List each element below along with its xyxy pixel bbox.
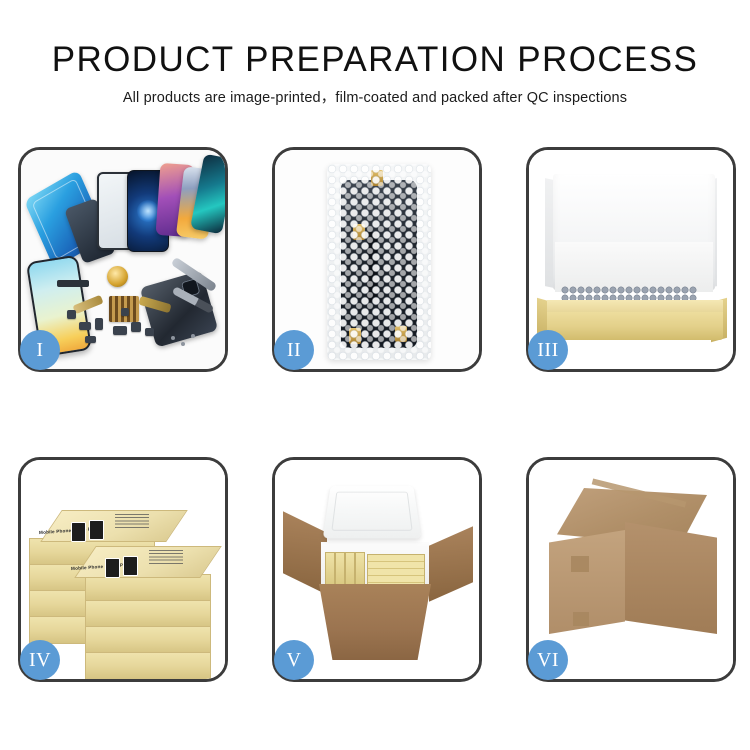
foam-lid <box>323 486 422 538</box>
product-preparation-process-page: PRODUCT PREPARATION PROCESS All products… <box>0 0 750 750</box>
stacked-box-f2 <box>85 600 211 628</box>
small-part-2 <box>79 322 91 330</box>
small-part-5 <box>131 322 141 332</box>
stacked-box-top-back <box>40 510 188 542</box>
step-badge-1: I <box>20 330 60 370</box>
retail-box-stack: Mobile Phone Spare Parts Mobile Phone Sp… <box>27 478 225 670</box>
page-subtitle: All products are image-printed，film-coat… <box>0 87 750 109</box>
step-badge-3: III <box>528 330 568 370</box>
small-part-3 <box>95 318 103 330</box>
inner-box-v4 <box>355 552 365 588</box>
step-panel-3[interactable]: III <box>526 147 736 372</box>
step-badge-4: IV <box>20 640 60 680</box>
screw-3 <box>191 334 195 338</box>
inner-box-base <box>547 310 723 340</box>
inner-box-v1 <box>325 552 335 588</box>
shipping-carton-right-face <box>625 522 717 634</box>
inner-box-v3 <box>345 552 355 588</box>
box-label-spec-lines-back <box>115 514 149 530</box>
stacked-box-f1 <box>85 574 211 602</box>
carton-body <box>319 584 431 660</box>
stacked-box-f3 <box>85 626 211 654</box>
screw-2 <box>181 342 185 346</box>
box-label-phone-icon-front-1 <box>105 558 120 578</box>
speaker-coil-part <box>107 266 128 287</box>
bubble-wrapped-package <box>327 164 431 360</box>
small-part-7 <box>85 336 96 343</box>
stacked-box-top-front <box>74 546 222 578</box>
box-label-spec-lines-front <box>149 550 183 566</box>
small-part-1 <box>67 310 76 319</box>
box-label-phone-icon-front-2 <box>123 556 138 576</box>
step-panel-4[interactable]: Mobile Phone Spare Parts Mobile Phone Sp… <box>18 457 228 682</box>
step-panel-2[interactable]: II <box>272 147 482 372</box>
small-part-4 <box>113 326 127 335</box>
header: PRODUCT PREPARATION PROCESS All products… <box>0 40 750 109</box>
stacked-box-f4 <box>85 652 211 679</box>
small-part-6 <box>145 328 154 336</box>
box-label-phone-icon-back-2 <box>89 520 104 540</box>
step-badge-2: II <box>274 330 314 370</box>
carton-patch-upper <box>571 556 589 572</box>
earpiece-mesh-part <box>57 280 89 287</box>
step-panel-5[interactable]: V <box>272 457 482 682</box>
step-badge-5: V <box>274 640 314 680</box>
page-title: PRODUCT PREPARATION PROCESS <box>0 40 750 80</box>
inner-box-foam-sheet <box>555 242 713 292</box>
bubble-wrap-highlights <box>327 164 431 360</box>
carton-patch-lower <box>573 612 589 626</box>
step-panel-1[interactable]: I <box>18 147 228 372</box>
small-part-8 <box>121 308 129 316</box>
step-panel-6[interactable]: VI <box>526 457 736 682</box>
inner-box-v2 <box>335 552 345 588</box>
process-steps-grid: I II <box>18 147 733 682</box>
box-label-phone-icon-back-1 <box>71 522 86 542</box>
screw-1 <box>171 336 175 340</box>
step-badge-6: VI <box>528 640 568 680</box>
